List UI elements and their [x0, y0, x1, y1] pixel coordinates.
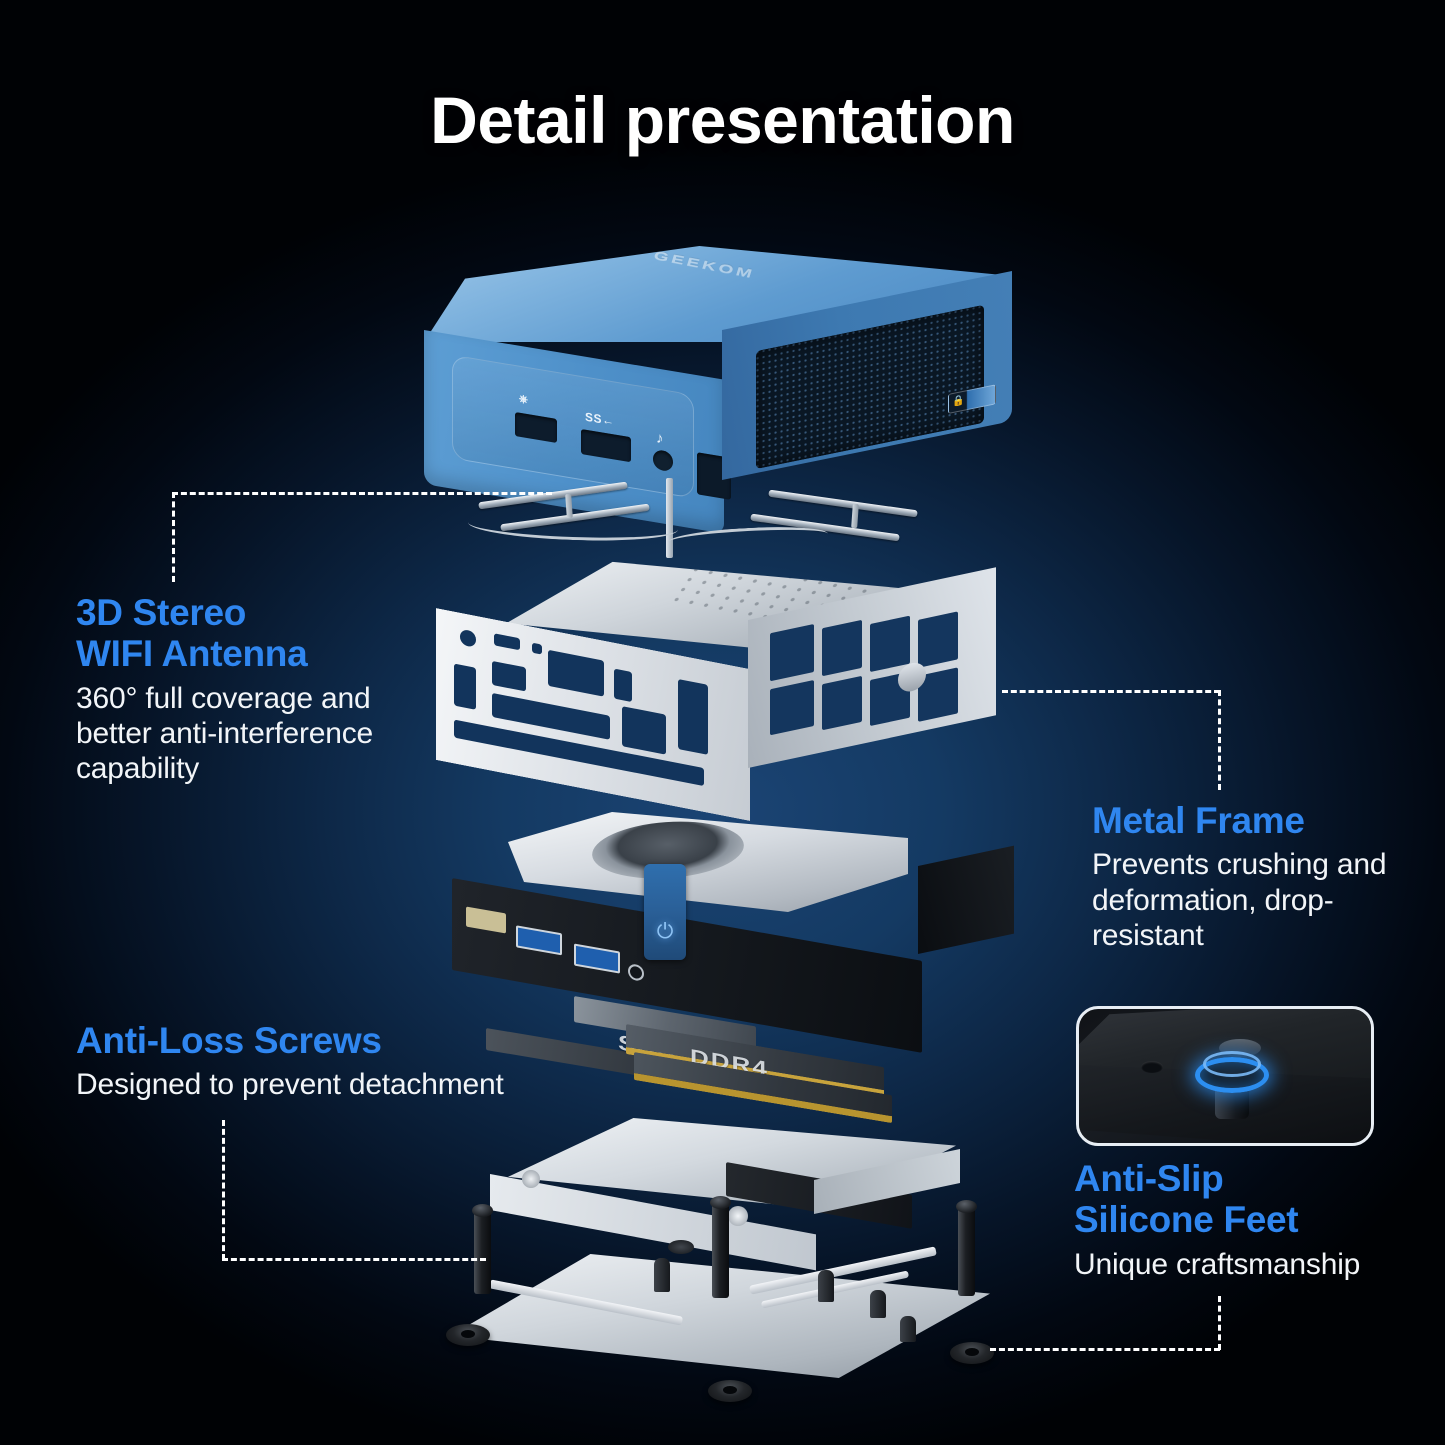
antenna-center-post	[666, 478, 673, 558]
anti-slip-foot-closeup-inset	[1076, 1006, 1374, 1146]
frame-cutout	[460, 629, 476, 648]
antenna-bar-right-upper	[768, 490, 918, 518]
callout-wifi-antenna: 3D Stereo WIFI Antenna 360° full coverag…	[76, 592, 416, 786]
ventilation-mesh	[756, 305, 984, 469]
frame-grid-hole	[870, 616, 910, 673]
standoff-post	[870, 1290, 886, 1318]
callout-body: Prevents crushing and deformation, drop-…	[1092, 847, 1392, 952]
callout-anti-loss-screws: Anti-Loss Screws Designed to prevent det…	[76, 1020, 556, 1103]
standoff-post	[818, 1270, 834, 1302]
antenna-post-right	[851, 504, 859, 528]
usb-3-icon: SS←	[585, 410, 615, 429]
power-icon: ⏻	[657, 921, 674, 942]
frame-cutout	[614, 669, 632, 702]
antenna-cable-right	[668, 524, 829, 552]
usb-3-port	[574, 944, 620, 974]
callout-heading: Anti-Loss Screws	[76, 1020, 556, 1061]
base-plate-assembly	[430, 1236, 1020, 1406]
frame-grid-hole	[822, 620, 862, 677]
frame-cutout	[454, 663, 476, 709]
frame-grid-hole	[918, 611, 958, 668]
motherboard-assembly: ⏻	[452, 812, 1008, 988]
callout-heading-line-1: Anti-Slip	[1074, 1158, 1394, 1199]
callout-heading: 3D Stereo WIFI Antenna	[76, 592, 416, 675]
metal-frame	[432, 560, 1010, 772]
usb-3-port	[581, 429, 631, 462]
tray-screw-hole	[522, 1170, 540, 1188]
callout-anti-slip-feet: Anti-Slip Silicone Feet Unique craftsman…	[1074, 1158, 1394, 1282]
tray-screw-hole	[728, 1206, 748, 1226]
standoff-post	[900, 1316, 916, 1342]
headphone-jack	[653, 449, 673, 472]
anti-loss-screw	[474, 1210, 491, 1294]
callout-body: Unique craftsmanship	[1074, 1247, 1394, 1282]
frame-grid-hole	[770, 680, 814, 735]
antenna-cable-left	[468, 508, 679, 543]
callout-heading-line-2: WIFI Antenna	[76, 633, 416, 674]
frame-cutout	[622, 706, 666, 755]
anti-loss-screw-head	[472, 1204, 493, 1217]
callout-metal-frame: Metal Frame Prevents crushing and deform…	[1092, 800, 1392, 953]
silicone-foot	[950, 1342, 994, 1364]
silicone-foot	[446, 1324, 490, 1346]
headphone-icon: ♪	[656, 429, 664, 447]
silicone-foot	[668, 1240, 694, 1254]
usb-c-icon: ⎈	[519, 393, 528, 408]
pcb-side-edge	[918, 846, 1014, 954]
frame-cutout	[494, 633, 520, 650]
frame-cutout	[532, 643, 542, 655]
callout-heading-line-2: Silicone Feet	[1074, 1199, 1394, 1240]
usb-c-port	[515, 412, 557, 443]
callout-body: Designed to prevent detachment	[76, 1067, 556, 1102]
audio-jack	[628, 963, 644, 982]
frame-grid-hole	[770, 624, 814, 681]
silicone-foot	[708, 1380, 752, 1402]
anti-loss-screw	[712, 1202, 729, 1298]
frame-cutout	[678, 679, 708, 755]
display-port	[466, 906, 506, 933]
frame-cutout	[548, 650, 604, 697]
mini-pc-top-cover: GEEKOM ⎈ SS← ♪ 🔒	[424, 246, 1010, 496]
standoff-post	[654, 1258, 670, 1292]
callout-body: 360° full coverage and better anti-inter…	[76, 681, 416, 786]
power-button[interactable]: ⏻	[644, 864, 686, 960]
anti-loss-screw	[958, 1206, 975, 1296]
frame-cutout	[492, 661, 526, 692]
frame-grid-hole	[822, 676, 862, 731]
wifi-antenna-assembly	[470, 478, 960, 562]
callout-heading-line-1: 3D Stereo	[76, 592, 416, 633]
inset-screw-hole	[1141, 1061, 1163, 1073]
antenna-bar-left-upper	[478, 482, 628, 510]
usb-3-port	[516, 925, 562, 955]
anti-loss-screw-head	[710, 1196, 731, 1209]
infographic-canvas: Detail presentation GEEKOM ⎈ SS← ♪	[0, 0, 1445, 1445]
callout-heading: Anti-Slip Silicone Feet	[1074, 1158, 1394, 1241]
anti-loss-screw-head	[956, 1200, 977, 1213]
callout-heading: Metal Frame	[1092, 800, 1392, 841]
inset-silicone-foot-inner-ring	[1203, 1051, 1261, 1077]
